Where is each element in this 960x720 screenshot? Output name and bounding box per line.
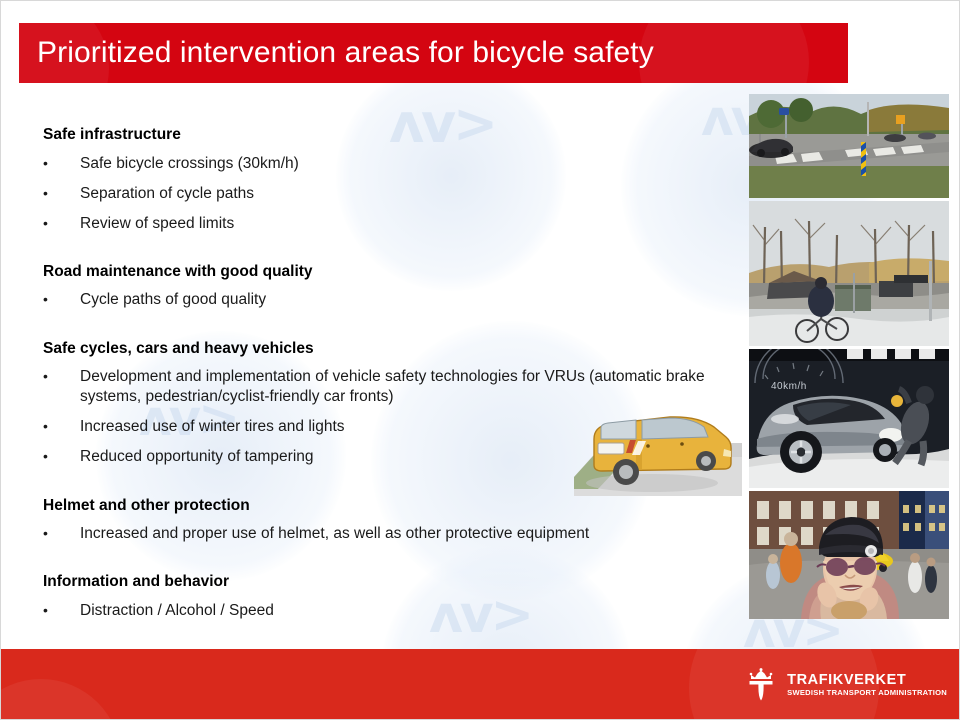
section-safe-infrastructure: Safe infrastructure • Safe bicycle cross…: [43, 127, 733, 234]
logo-name: TRAFIKVERKET: [787, 673, 947, 688]
logo-wordmark: TRAFIKVERKET SWEDISH TRANSPORT ADMINISTR…: [787, 673, 947, 697]
slide-body: Safe infrastructure • Safe bicycle cross…: [43, 127, 733, 631]
slide-title-bar: Prioritized intervention areas for bicyc…: [19, 23, 848, 83]
list-item: • Review of speed limits: [43, 214, 733, 234]
bullet-marker-icon: •: [43, 290, 80, 310]
list-item: • Separation of cycle paths: [43, 184, 733, 204]
winter-cyclist-photo: [749, 201, 949, 346]
section-heading: Safe infrastructure: [43, 127, 733, 143]
bullet-marker-icon: •: [43, 154, 80, 174]
list-item-text: Increased and proper use of helmet, as w…: [80, 524, 733, 544]
bullet-marker-icon: •: [43, 214, 80, 234]
list-item: • Distraction / Alcohol / Speed: [43, 601, 733, 621]
crash-test-photo: 40km/h: [749, 349, 949, 488]
list-item-text: Separation of cycle paths: [80, 184, 733, 204]
section-information-behavior: Information and behavior • Distraction /…: [43, 574, 733, 621]
logo-subtitle: SWEDISH TRANSPORT ADMINISTRATION: [787, 689, 947, 697]
page-title: Prioritized intervention areas for bicyc…: [37, 36, 654, 70]
presentation-slide: ᴧv> ᴧv> ᴧv> ᴧv> ᴧv> Prioritized interven…: [0, 0, 960, 720]
crash-test-speed-label: 40km/h: [771, 381, 807, 392]
list-item-text: Distraction / Alcohol / Speed: [80, 601, 733, 621]
road-crossing-photo: [749, 94, 949, 198]
section-spacer: [43, 554, 733, 574]
bullet-marker-icon: •: [43, 417, 80, 437]
title-bar-halo: [639, 23, 809, 83]
list-item-text: Safe bicycle crossings (30km/h): [80, 154, 733, 174]
section-spacer: [43, 244, 733, 264]
list-item: • Cycle paths of good quality: [43, 290, 733, 310]
bullet-marker-icon: •: [43, 601, 80, 621]
yellow-station-wagon-illustration: [574, 399, 742, 496]
section-heading: Safe cycles, cars and heavy vehicles: [43, 341, 733, 357]
bullet-marker-icon: •: [43, 524, 80, 544]
section-road-maintenance: Road maintenance with good quality • Cyc…: [43, 264, 733, 311]
list-item: • Increased and proper use of helmet, as…: [43, 524, 733, 544]
section-helmet-protection: Helmet and other protection • Increased …: [43, 498, 733, 545]
bullet-marker-icon: •: [43, 367, 80, 407]
list-item: • Safe bicycle crossings (30km/h): [43, 154, 733, 174]
list-item-text: Cycle paths of good quality: [80, 290, 733, 310]
bullet-marker-icon: •: [43, 184, 80, 204]
crown-icon: [744, 668, 778, 702]
slide-footer-bar: TRAFIKVERKET SWEDISH TRANSPORT ADMINISTR…: [1, 649, 960, 720]
section-spacer: [43, 321, 733, 341]
bullet-marker-icon: •: [43, 447, 80, 467]
section-heading: Information and behavior: [43, 574, 733, 590]
trafikverket-logo: TRAFIKVERKET SWEDISH TRANSPORT ADMINISTR…: [744, 668, 947, 702]
footer-halo: [1, 679, 121, 720]
section-heading: Road maintenance with good quality: [43, 264, 733, 280]
elderly-cyclist-helmet-photo: [749, 491, 949, 619]
list-item-text: Review of speed limits: [80, 214, 733, 234]
section-heading: Helmet and other protection: [43, 498, 733, 514]
